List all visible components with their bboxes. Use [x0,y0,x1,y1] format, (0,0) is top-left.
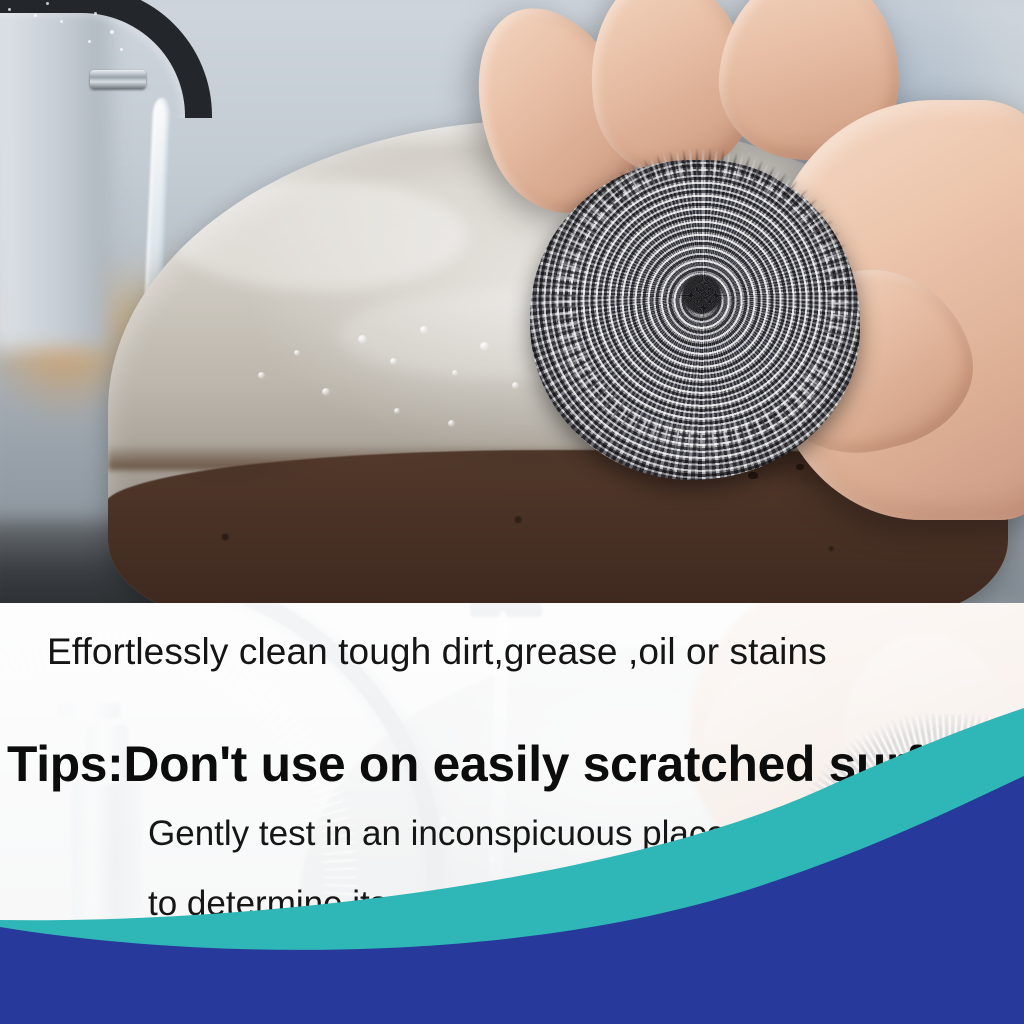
tips-headline: Tips:Don't use on easily scratched surfa… [7,735,1024,793]
advice-line-1: Gently test in an inconspicuous place [148,814,726,854]
advice-line-2: to determine its suitability [148,884,541,924]
benefit-line: Effortlessly clean tough dirt,grease ,oi… [47,631,827,673]
product-infographic: Effortlessly clean tough dirt,grease ,oi… [0,0,1024,1024]
info-copy: Effortlessly clean tough dirt,grease ,oi… [0,0,1024,1024]
